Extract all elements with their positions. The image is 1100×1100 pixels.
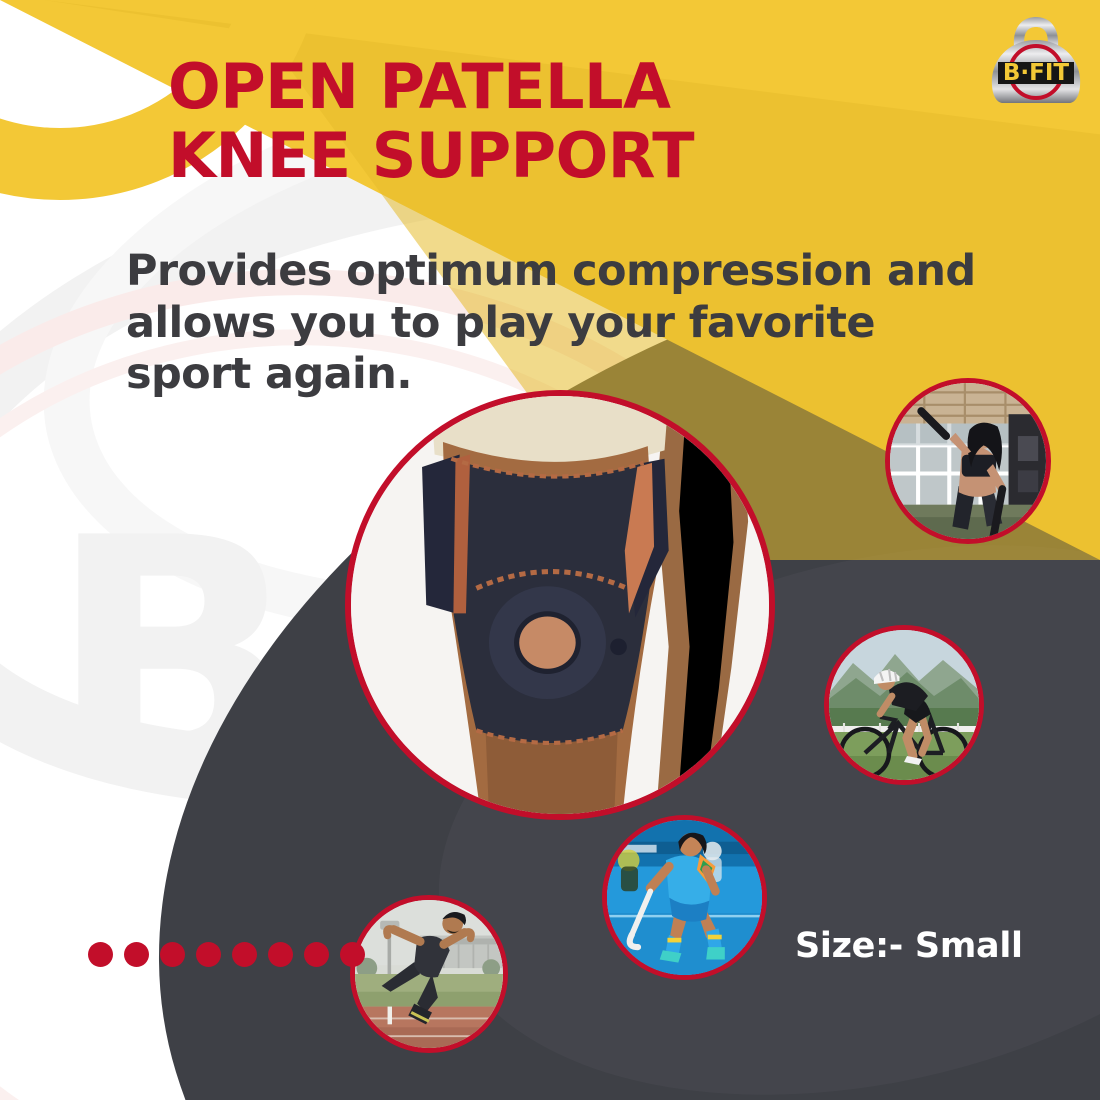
battle-ropes-illustration <box>890 383 1046 539</box>
logo-wordmark: B·FIT <box>1003 60 1070 86</box>
cyclist-illustration <box>829 630 979 780</box>
red-dot <box>88 942 113 967</box>
red-dot <box>124 942 149 967</box>
red-dot <box>304 942 329 967</box>
page-title: OPEN PATELLA KNEE SUPPORT <box>168 52 694 191</box>
photo-field-hockey <box>602 815 767 980</box>
bfit-logo: B·FIT <box>982 10 1090 110</box>
red-dot <box>196 942 221 967</box>
kettlebell-icon: B·FIT <box>982 10 1090 110</box>
hockey-player-illustration <box>607 820 762 975</box>
photo-battle-ropes <box>885 378 1051 544</box>
red-dot <box>268 942 293 967</box>
sprinter-illustration <box>355 900 503 1048</box>
product-photo-knee-brace <box>345 390 775 820</box>
knee-brace-illustration <box>351 396 769 814</box>
photo-cycling <box>824 625 984 785</box>
red-dot <box>340 942 365 967</box>
red-dot <box>160 942 185 967</box>
product-poster: B·FIT OPEN PATELLA KNEE SUPPORT Provides… <box>0 0 1100 1100</box>
subtitle-text: Provides optimum compression and allows … <box>126 246 1006 401</box>
red-dot <box>232 942 257 967</box>
photo-sprinting <box>350 895 508 1053</box>
size-label: Size:- Small <box>795 926 1023 966</box>
red-dot-row <box>88 942 365 967</box>
